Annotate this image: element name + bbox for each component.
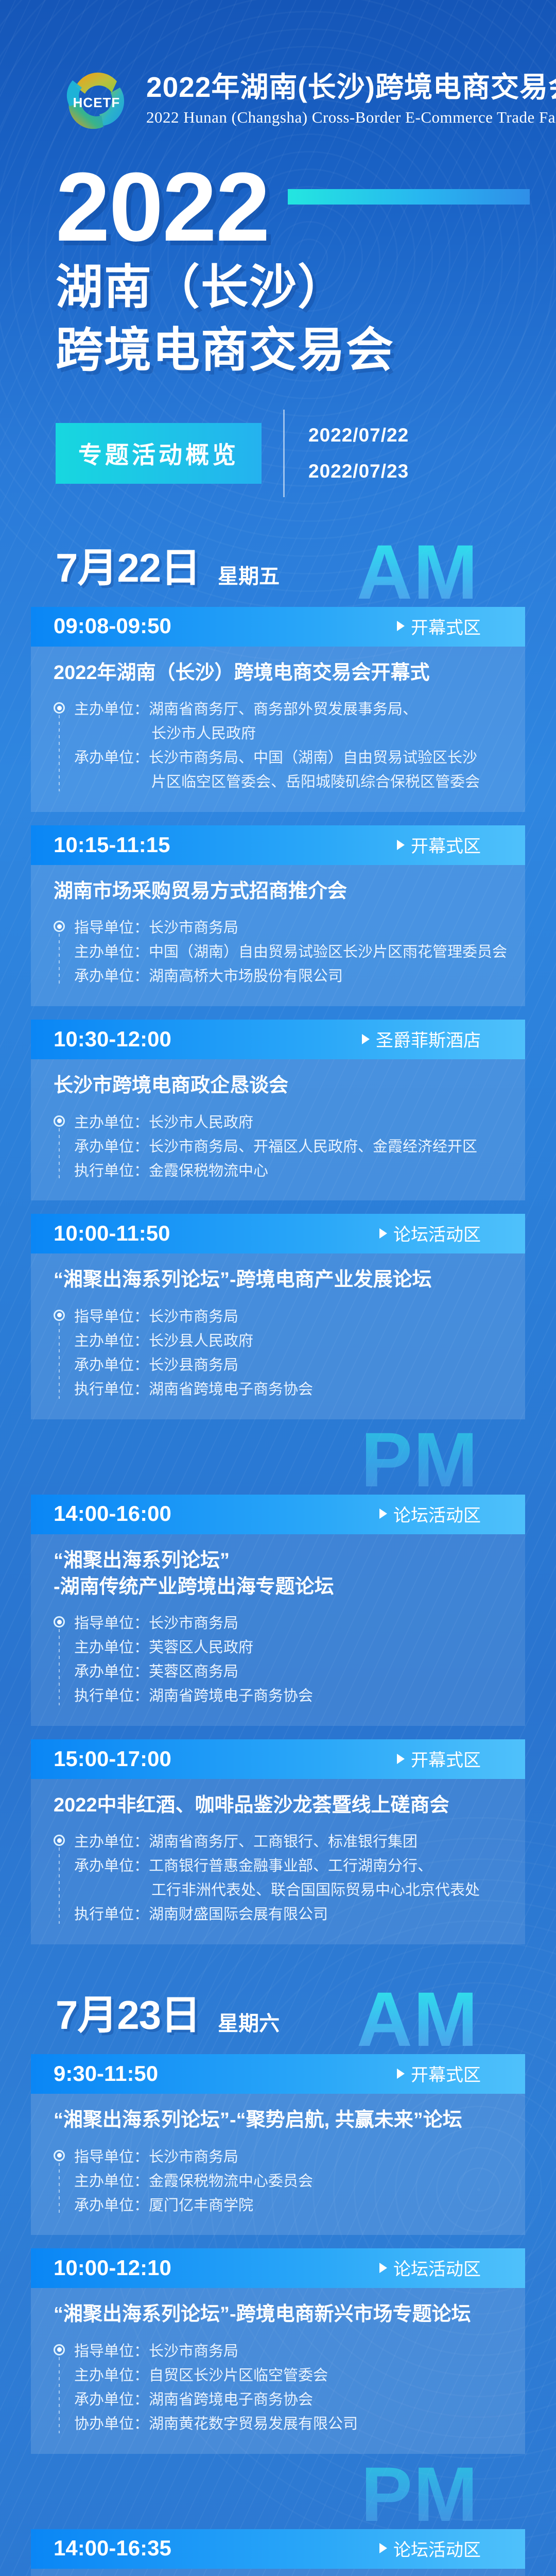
organizer-line: 承办单位：厦门亿丰商学院: [74, 2194, 502, 2218]
period-label-am: AM: [357, 541, 479, 603]
event-panel: 10:30-12:00圣爵菲斯酒店长沙市跨境电商政企恳谈会主办单位：长沙市人民政…: [31, 1020, 525, 1200]
organizer-lines: 主办单位：湖南省商务厅、商务部外贸发展事务局、长沙市人民政府承办单位：长沙市商务…: [74, 698, 502, 794]
event-venue-label: 开幕式区: [411, 2061, 481, 2086]
triangle-icon: [379, 2543, 387, 2553]
day-header: 7月23日星期六AM: [0, 1944, 556, 2041]
event-organizers: 主办单位：长沙市人民政府承办单位：长沙市商务局、开福区人民政府、金霞经济经开区执…: [54, 1111, 502, 1183]
dashed-connector: [59, 715, 60, 791]
dashed-connector: [59, 934, 60, 986]
organizer-marker: [54, 1830, 74, 1927]
organizer-lines: 指导单位：长沙市商务局主办单位：自贸区长沙片区临空管委会承办单位：湖南省跨境电子…: [74, 2340, 502, 2436]
triangle-icon: [362, 1034, 370, 1044]
period-label-pm: PM: [361, 2463, 479, 2525]
event-organizers: 指导单位：长沙市商务局主办单位：芙蓉区人民政府承办单位：芙蓉区商务局执行单位：湖…: [54, 1612, 502, 1708]
triangle-icon: [379, 1509, 387, 1519]
event-panel: 9:30-11:50开幕式区“湘聚出海系列论坛”-“聚势启航, 共赢未来”论坛指…: [31, 2054, 525, 2235]
poster-root: HCETF 2022年湖南(长沙)跨境电商交易会 2022 Hunan (Cha…: [0, 0, 556, 2576]
masthead-title-en: 2022 Hunan (Changsha) Cross-Border E-Com…: [146, 108, 556, 127]
masthead-text: 2022年湖南(长沙)跨境电商交易会 2022 Hunan (Changsha)…: [146, 72, 556, 127]
triangle-icon: [397, 1754, 405, 1764]
event-panel: 10:15-11:15开幕式区湖南市场采购贸易方式招商推介会指导单位：长沙市商务…: [31, 825, 525, 1006]
event-time-bar: 10:15-11:15开幕式区: [31, 825, 525, 865]
event-time: 9:30-11:50: [54, 2061, 158, 2086]
organizer-line: 工行非洲代表处、联合国国际贸易中心北京代表处: [74, 1878, 502, 1903]
organizer-line: 执行单位：湖南省跨境电子商务协会: [74, 1378, 502, 1402]
dashed-connector: [59, 1128, 60, 1180]
event-time-bar: 10:00-12:10论坛活动区: [31, 2248, 525, 2288]
event-time-bar: 10:00-11:50论坛活动区: [31, 1214, 525, 1253]
event-body: 2022中非红酒、咖啡品鉴沙龙荟暨线上磋商会主办单位：湖南省商务厅、工商银行、标…: [31, 1779, 525, 1944]
event-title: 长沙市跨境电商政企恳谈会: [54, 1073, 502, 1099]
event-venue-label: 论坛活动区: [393, 1221, 481, 1246]
event-organizers: 指导单位：长沙市商务局主办单位：自贸区长沙片区临空管委会承办单位：湖南省跨境电子…: [54, 2340, 502, 2436]
event-panel: 10:00-11:50论坛活动区“湘聚出海系列论坛”-跨境电商产业发展论坛指导单…: [31, 1214, 525, 1419]
event-title: “湘聚出海系列论坛”-跨境电商产业发展论坛: [54, 1267, 502, 1293]
event-organizers: 指导单位：长沙市商务局主办单位：中国（湖南）自由贸易试验区长沙片区雨花管理委员会…: [54, 916, 502, 989]
organizer-marker: [54, 698, 74, 794]
event-venue: 论坛活动区: [379, 2536, 502, 2561]
triangle-icon: [379, 1228, 387, 1239]
dot-icon: [54, 921, 65, 932]
day-header: 7月22日星期五AM: [0, 497, 556, 594]
event-time: 10:30-12:00: [54, 1027, 171, 1052]
organizer-lines: 指导单位：长沙市商务局主办单位：长沙县人民政府承办单位：长沙县商务局执行单位：湖…: [74, 1305, 502, 1402]
organizer-line: 执行单位：金霞保税物流中心: [74, 1159, 502, 1183]
event-body: “湘聚出海系列论坛”-阿里巴巴国际站专题论坛指导单位：长沙市商务局主办单位：长沙…: [31, 2569, 525, 2576]
event-time: 09:08-09:50: [54, 614, 171, 638]
hero-line-2: 跨境电商交易会: [56, 323, 556, 379]
event-venue-label: 论坛活动区: [393, 2536, 481, 2561]
subtitle-row: 专题活动概览 2022/07/22 2022/07/23: [0, 379, 556, 497]
organizer-marker: [54, 1612, 74, 1708]
organizer-lines: 指导单位：长沙市商务局主办单位：芙蓉区人民政府承办单位：芙蓉区商务局执行单位：湖…: [74, 1612, 502, 1708]
event-title: 湖南市场采购贸易方式招商推介会: [54, 878, 502, 905]
event-body: “湘聚出海系列论坛”-“聚势启航, 共赢未来”论坛指导单位：长沙市商务局主办单位…: [31, 2094, 525, 2235]
event-venue-label: 开幕式区: [411, 1746, 481, 1771]
dot-icon: [54, 1835, 65, 1846]
organizer-line: 指导单位：长沙市商务局: [74, 2340, 502, 2364]
event-venue: 开幕式区: [397, 1746, 502, 1771]
event-venue-label: 开幕式区: [411, 614, 481, 639]
day-weekday-label: 星期六: [218, 2007, 280, 2037]
organizer-line: 主办单位：长沙县人民政府: [74, 1329, 502, 1353]
organizer-line: 片区临空区管委会、岳阳城陵矶综合保税区管委会: [74, 770, 502, 794]
day-date-label: 7月23日: [56, 1983, 200, 2041]
schedule-container: 7月22日星期五AM09:08-09:50开幕式区2022年湖南（长沙）跨境电商…: [0, 497, 556, 2576]
organizer-line: 执行单位：湖南财盛国际会展有限公司: [74, 1903, 502, 1927]
event-body: 湖南市场采购贸易方式招商推介会指导单位：长沙市商务局主办单位：中国（湖南）自由贸…: [31, 865, 525, 1006]
event-venue: 圣爵菲斯酒店: [362, 1026, 502, 1052]
organizer-line: 承办单位：长沙市商务局、开福区人民政府、金霞经济经开区: [74, 1135, 502, 1159]
day-date-label: 7月22日: [56, 536, 200, 594]
event-organizers: 主办单位：湖南省商务厅、工商银行、标准银行集团承办单位：工商银行普惠金融事业部、…: [54, 1830, 502, 1927]
subtitle-badge: 专题活动概览: [56, 423, 262, 484]
organizer-lines: 主办单位：湖南省商务厅、工商银行、标准银行集团承办单位：工商银行普惠金融事业部、…: [74, 1830, 502, 1927]
event-time: 10:15-11:15: [54, 833, 170, 857]
hcetf-logo-icon: HCETF: [54, 57, 139, 142]
organizer-line: 指导单位：长沙市商务局: [74, 1612, 502, 1636]
organizer-line: 承办单位：长沙市商务局、中国（湖南）自由贸易试验区长沙: [74, 746, 502, 770]
event-title-sub: -湖南传统产业跨境出海专题论坛: [54, 1574, 502, 1600]
hero-accent-rule: [288, 189, 530, 205]
event-time: 10:00-11:50: [54, 1221, 170, 1246]
dashed-connector: [59, 1323, 60, 1399]
dot-icon: [54, 1115, 65, 1127]
organizer-line: 主办单位：芙蓉区人民政府: [74, 1636, 502, 1660]
event-venue: 开幕式区: [397, 832, 502, 857]
vertical-divider: [283, 410, 285, 497]
organizer-marker: [54, 1111, 74, 1183]
day-weekday-label: 星期五: [218, 560, 280, 589]
organizer-line: 指导单位：长沙市商务局: [74, 2145, 502, 2170]
dot-icon: [54, 1616, 65, 1628]
organizer-lines: 指导单位：长沙市商务局主办单位：中国（湖南）自由贸易试验区长沙片区雨花管理委员会…: [74, 916, 507, 989]
organizer-marker: [54, 2340, 74, 2436]
hero-section: 2022 湖南（长沙） 跨境电商交易会: [0, 142, 556, 379]
date-list: 2022/07/22 2022/07/23: [308, 417, 409, 490]
organizer-line: 承办单位：长沙县商务局: [74, 1353, 502, 1378]
organizer-marker: [54, 2145, 74, 2218]
masthead: HCETF 2022年湖南(长沙)跨境电商交易会 2022 Hunan (Cha…: [0, 0, 556, 142]
organizer-lines: 主办单位：长沙市人民政府承办单位：长沙市商务局、开福区人民政府、金霞经济经开区执…: [74, 1111, 502, 1183]
event-body: “湘聚出海系列论坛”-跨境电商新兴市场专题论坛指导单位：长沙市商务局主办单位：自…: [31, 2288, 525, 2453]
event-organizers: 指导单位：长沙市商务局主办单位：长沙县人民政府承办单位：长沙县商务局执行单位：湖…: [54, 1305, 502, 1402]
dashed-connector: [59, 1629, 60, 1705]
event-time: 14:00-16:00: [54, 1501, 171, 1526]
event-title: “湘聚出海系列论坛”-跨境电商新兴市场专题论坛: [54, 2301, 502, 2328]
hero-line-1: 湖南（长沙）: [56, 260, 556, 316]
dot-icon: [54, 702, 65, 714]
event-body: “湘聚出海系列论坛”-湖南传统产业跨境出海专题论坛指导单位：长沙市商务局主办单位…: [31, 1534, 525, 1726]
event-venue: 开幕式区: [397, 614, 502, 639]
period-label-am: AM: [357, 1988, 479, 2050]
organizer-line: 承办单位：工商银行普惠金融事业部、工行湖南分行、: [74, 1854, 502, 1878]
hero-year-row: 2022: [56, 162, 556, 252]
event-time: 14:00-16:35: [54, 2536, 171, 2561]
event-body: 2022年湖南（长沙）跨境电商交易会开幕式主办单位：湖南省商务厅、商务部外贸发展…: [31, 647, 525, 812]
organizer-line: 主办单位：湖南省商务厅、商务部外贸发展事务局、: [74, 698, 502, 722]
event-venue: 论坛活动区: [379, 1221, 502, 1246]
event-venue-label: 论坛活动区: [393, 2255, 481, 2280]
event-body: 长沙市跨境电商政企恳谈会主办单位：长沙市人民政府承办单位：长沙市商务局、开福区人…: [31, 1059, 525, 1200]
date-line-2: 2022/07/23: [308, 453, 409, 489]
event-organizers: 指导单位：长沙市商务局主办单位：金霞保税物流中心委员会承办单位：厦门亿丰商学院: [54, 2145, 502, 2218]
organizer-line: 指导单位：长沙市商务局: [74, 916, 507, 940]
organizer-line: 长沙市人民政府: [74, 722, 502, 746]
event-panel: 09:08-09:50开幕式区2022年湖南（长沙）跨境电商交易会开幕式主办单位…: [31, 607, 525, 812]
dashed-connector: [59, 2163, 60, 2215]
day-header: PM: [0, 1419, 556, 1481]
hero-year: 2022: [56, 162, 269, 252]
event-organizers: 主办单位：湖南省商务厅、商务部外贸发展事务局、长沙市人民政府承办单位：长沙市商务…: [54, 698, 502, 794]
organizer-marker: [54, 916, 74, 989]
organizer-line: 执行单位：湖南省跨境电子商务协会: [74, 1684, 502, 1708]
organizer-lines: 指导单位：长沙市商务局主办单位：金霞保税物流中心委员会承办单位：厦门亿丰商学院: [74, 2145, 502, 2218]
organizer-line: 指导单位：长沙市商务局: [74, 1305, 502, 1329]
organizer-line: 协办单位：湖南黄花数字贸易发展有限公司: [74, 2412, 502, 2436]
triangle-icon: [397, 840, 405, 850]
dot-icon: [54, 2150, 65, 2161]
event-panel: 10:00-12:10论坛活动区“湘聚出海系列论坛”-跨境电商新兴市场专题论坛指…: [31, 2248, 525, 2453]
event-venue-label: 开幕式区: [411, 832, 481, 857]
dot-icon: [54, 1310, 65, 1321]
dashed-connector: [59, 2357, 60, 2433]
triangle-icon: [397, 621, 405, 631]
event-time: 10:00-12:10: [54, 2256, 171, 2280]
organizer-line: 主办单位：金霞保税物流中心委员会: [74, 2170, 502, 2194]
organizer-line: 主办单位：自贸区长沙片区临空管委会: [74, 2364, 502, 2388]
period-label-pm: PM: [361, 1429, 479, 1490]
event-panel: 15:00-17:00开幕式区2022中非红酒、咖啡品鉴沙龙荟暨线上磋商会主办单…: [31, 1739, 525, 1944]
date-line-1: 2022/07/22: [308, 417, 409, 453]
event-time-bar: 10:30-12:00圣爵菲斯酒店: [31, 1020, 525, 1059]
triangle-icon: [397, 2069, 405, 2079]
masthead-title-cn: 2022年湖南(长沙)跨境电商交易会: [146, 72, 556, 103]
event-title: “湘聚出海系列论坛”-“聚势启航, 共赢未来”论坛: [54, 2107, 502, 2133]
logo-label: HCETF: [54, 95, 139, 111]
event-venue: 论坛活动区: [379, 2255, 502, 2280]
day-header: PM: [0, 2454, 556, 2516]
event-body: “湘聚出海系列论坛”-跨境电商产业发展论坛指导单位：长沙市商务局主办单位：长沙县…: [31, 1253, 525, 1419]
event-venue: 论坛活动区: [379, 1501, 502, 1527]
organizer-marker: [54, 1305, 74, 1402]
dashed-connector: [59, 1848, 60, 1924]
triangle-icon: [379, 2263, 387, 2273]
event-title: “湘聚出海系列论坛”-湖南传统产业跨境出海专题论坛: [54, 1548, 502, 1601]
event-time: 15:00-17:00: [54, 1747, 171, 1771]
event-venue-label: 圣爵菲斯酒店: [376, 1026, 481, 1052]
organizer-line: 主办单位：长沙市人民政府: [74, 1111, 502, 1135]
event-venue: 开幕式区: [397, 2061, 502, 2086]
organizer-line: 承办单位：湖南省跨境电子商务协会: [74, 2388, 502, 2412]
event-title: 2022中非红酒、咖啡品鉴沙龙荟暨线上磋商会: [54, 1792, 502, 1819]
dot-icon: [54, 2344, 65, 2355]
organizer-line: 主办单位：湖南省商务厅、工商银行、标准银行集团: [74, 1830, 502, 1854]
event-venue-label: 论坛活动区: [393, 1501, 481, 1527]
event-panel: 14:00-16:00论坛活动区“湘聚出海系列论坛”-湖南传统产业跨境出海专题论…: [31, 1495, 525, 1726]
organizer-line: 主办单位：中国（湖南）自由贸易试验区长沙片区雨花管理委员会: [74, 940, 507, 964]
organizer-line: 承办单位：芙蓉区商务局: [74, 1660, 502, 1684]
organizer-line: 承办单位：湖南高桥大市场股份有限公司: [74, 964, 507, 989]
event-title: 2022年湖南（长沙）跨境电商交易会开幕式: [54, 660, 502, 686]
event-time-bar: 15:00-17:00开幕式区: [31, 1739, 525, 1779]
